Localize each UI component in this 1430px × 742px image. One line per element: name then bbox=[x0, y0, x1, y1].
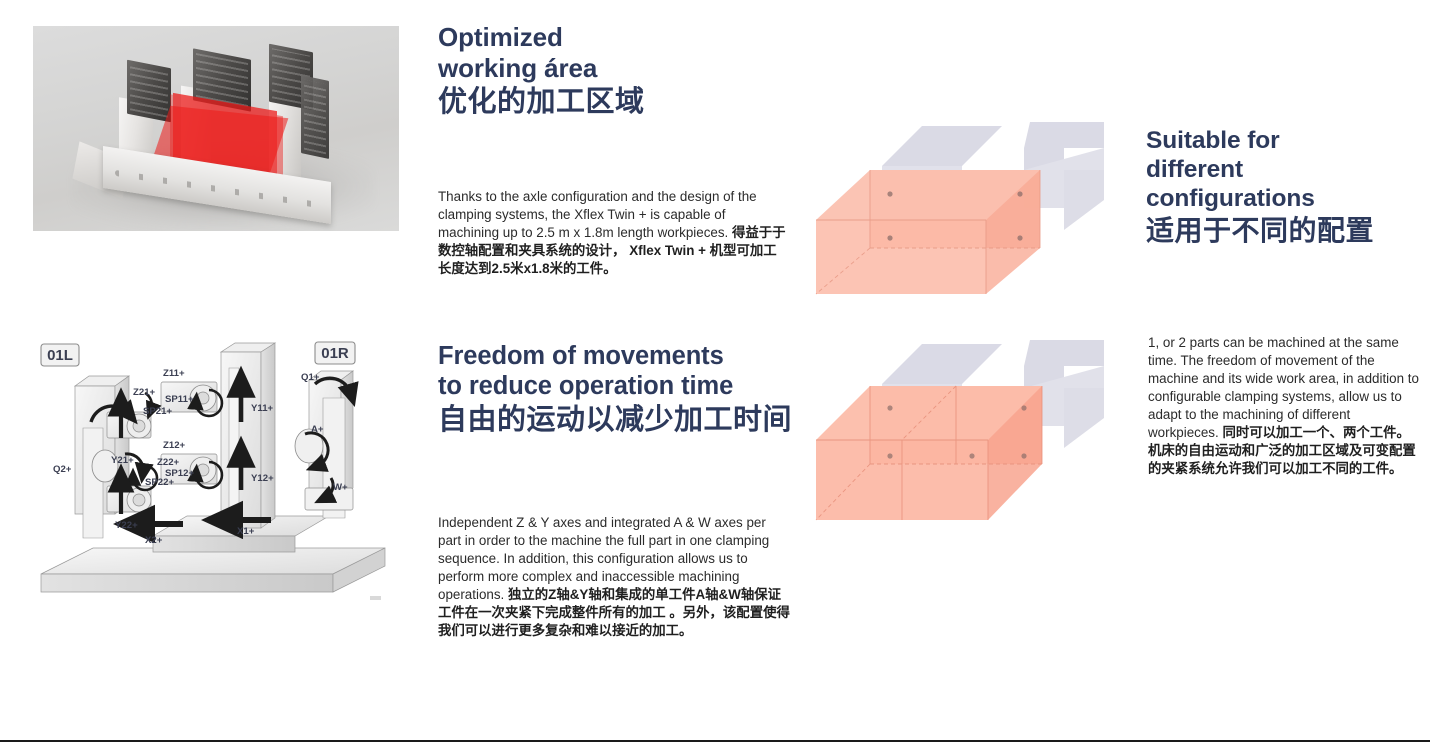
axis-label-y22: Y22+ bbox=[115, 520, 138, 531]
heading-line-en-1: Freedom of movements bbox=[438, 341, 798, 371]
heading-suitable-configurations: Suitable for different configurations 适用… bbox=[1146, 126, 1430, 248]
two-part-work-area-diagram bbox=[812, 330, 1108, 530]
axis-label-y11: Y11+ bbox=[251, 403, 274, 414]
heading-line-zh: 自由的运动以减少加工时间 bbox=[438, 403, 798, 438]
heading-freedom-of-movements: Freedom of movements to reduce operation… bbox=[438, 341, 798, 437]
axis-label-a: A+ bbox=[311, 424, 324, 435]
slide-canvas: Optimized working área 优化的加工区域 Thanks to… bbox=[0, 0, 1430, 742]
axis-label-y21: Y21+ bbox=[111, 455, 134, 466]
body-suitable-configurations: 1, or 2 parts can be machined at the sam… bbox=[1148, 334, 1422, 478]
axis-label-q1: Q1+ bbox=[301, 372, 320, 383]
spindle-head bbox=[127, 60, 171, 123]
svg-text:01R: 01R bbox=[321, 345, 349, 362]
axis-label-z11: Z11+ bbox=[163, 368, 185, 379]
axis-label-q2: Q2+ bbox=[53, 464, 72, 475]
svg-text:01L: 01L bbox=[47, 347, 73, 364]
spindle-head bbox=[301, 75, 329, 159]
heading-line-en-3: configurations bbox=[1146, 184, 1430, 213]
faint-marker bbox=[370, 596, 381, 600]
axis-label-sp12: SP12+ bbox=[165, 468, 194, 479]
heading-line-zh: 适用于不同的配置 bbox=[1146, 214, 1430, 247]
one-part-work-area-diagram bbox=[812, 108, 1108, 308]
clamping-fixture-photo bbox=[33, 26, 399, 231]
heading-line-en-1: Suitable for bbox=[1146, 126, 1430, 155]
heading-line-en-2: to reduce operation time bbox=[438, 371, 798, 401]
axis-label-z21: Z21+ bbox=[133, 387, 156, 398]
axis-label-sp11: SP11+ bbox=[165, 394, 194, 405]
heading-line-en-2: working área bbox=[438, 53, 798, 84]
station-tag-right: 01R bbox=[315, 342, 355, 364]
axis-label-x2: X2+ bbox=[145, 535, 163, 546]
heading-optimized-working-area: Optimized working área 优化的加工区域 bbox=[438, 22, 798, 119]
axis-label-sp21: SP21+ bbox=[143, 406, 172, 417]
body-optimized-working-area: Thanks to the axle configuration and the… bbox=[438, 188, 790, 278]
axis-label-z12: Z12+ bbox=[163, 440, 186, 451]
station-tag-left: 01L bbox=[41, 344, 79, 366]
axis-label-y12: Y12+ bbox=[251, 473, 274, 484]
body-freedom-of-movements: Independent Z & Y axes and integrated A … bbox=[438, 514, 790, 640]
body-paragraph-en: Thanks to the axle configuration and the… bbox=[438, 189, 757, 240]
axis-label-x1: X1+ bbox=[237, 526, 255, 537]
heading-line-en-1: Optimized bbox=[438, 22, 798, 53]
axis-label-z22: Z22+ bbox=[157, 457, 180, 468]
machine-axes-diagram: 01L 01R Z21+ SP21+ Y21+ Q2+ Z22+ SP22+ Y… bbox=[33, 338, 399, 604]
heading-line-zh: 优化的加工区域 bbox=[438, 85, 798, 120]
work-envelope bbox=[816, 386, 1042, 520]
heading-line-en-2: different bbox=[1146, 155, 1430, 184]
work-envelope bbox=[816, 170, 1040, 294]
axis-label-w: W+ bbox=[333, 482, 348, 493]
